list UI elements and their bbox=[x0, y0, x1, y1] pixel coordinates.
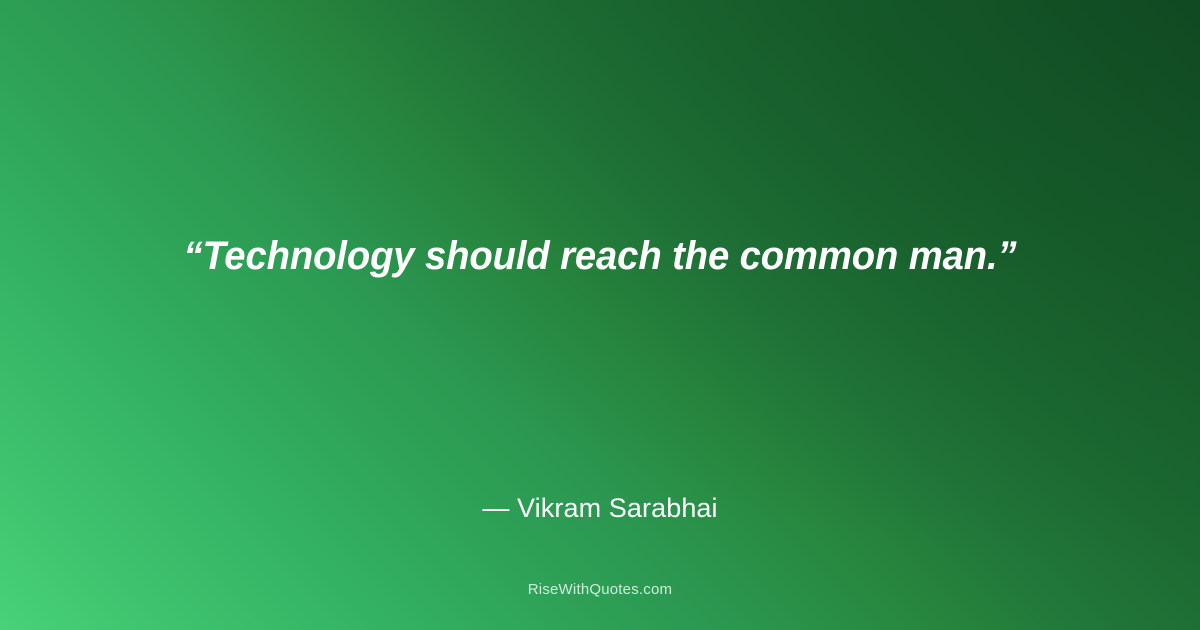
site-watermark: RiseWithQuotes.com bbox=[0, 579, 1200, 601]
quote-text: “Technology should reach the common man.… bbox=[27, 228, 1173, 284]
quote-author-attribution: — Vikram Sarabhai bbox=[0, 489, 1200, 527]
quote-card: “Technology should reach the common man.… bbox=[0, 0, 1200, 630]
